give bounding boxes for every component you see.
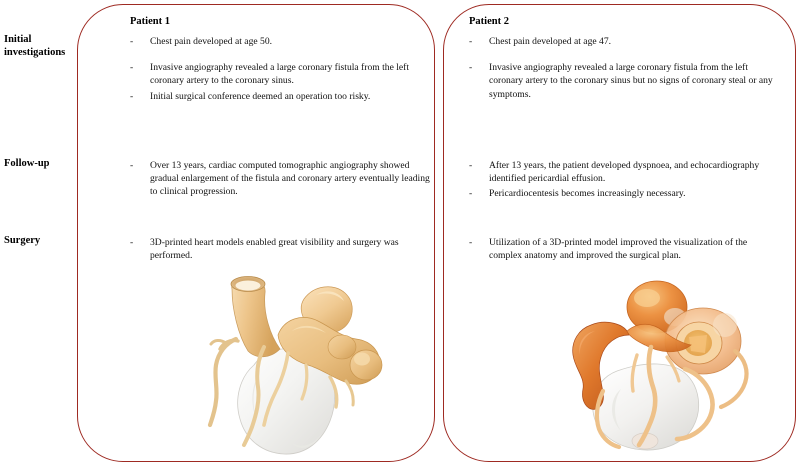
list-item: - After 13 years, the patient developed …	[469, 159, 781, 185]
list-item: - Invasive angiography revealed a large …	[130, 61, 430, 87]
list-item-text: Utilization of a 3D-printed model improv…	[489, 237, 747, 261]
bullet-dash-icon: -	[130, 35, 133, 48]
list-item-text: Over 13 years, cardiac computed tomograp…	[150, 160, 430, 197]
row-label-column: Initial investigations Follow-up Surgery	[0, 0, 76, 468]
list-item-text: After 13 years, the patient developed dy…	[489, 160, 759, 184]
patient-2-title: Patient 2	[469, 15, 509, 28]
list-item: - Chest pain developed at age 50.	[130, 35, 430, 48]
bullet-dash-icon: -	[130, 159, 133, 172]
row-label-initial-investigations: Initial investigations	[4, 34, 76, 59]
bullet-dash-icon: -	[469, 236, 472, 249]
patient-1-initial-investigations-list: - Chest pain developed at age 50. - Inva…	[130, 35, 430, 105]
heart-model-image-patient-1	[196, 273, 416, 455]
patient-2-panel: Patient 2 - Chest pain developed at age …	[443, 4, 796, 462]
bullet-dash-icon: -	[469, 159, 472, 172]
list-item-text: Chest pain developed at age 50.	[150, 36, 272, 47]
list-item: - Chest pain developed at age 47.	[469, 35, 781, 48]
patient-1-follow-up-list: - Over 13 years, cardiac computed tomogr…	[130, 159, 430, 201]
patient-2-follow-up-list: - After 13 years, the patient developed …	[469, 159, 781, 203]
bullet-dash-icon: -	[469, 35, 472, 48]
list-item: - Utilization of a 3D-printed model impr…	[469, 236, 781, 262]
list-item: - Pericardiocentesis becomes increasingl…	[469, 187, 781, 200]
list-item-text: Invasive angiography revealed a large co…	[489, 62, 773, 99]
row-label-follow-up: Follow-up	[4, 158, 76, 171]
list-item-text: Pericardiocentesis becomes increasingly …	[489, 188, 686, 199]
list-item: - Invasive angiography revealed a large …	[469, 61, 781, 101]
bullet-dash-icon: -	[469, 187, 472, 200]
list-item: - Over 13 years, cardiac computed tomogr…	[130, 159, 430, 199]
list-item-text: Initial surgical conference deemed an op…	[150, 91, 370, 102]
patient-1-title: Patient 1	[130, 15, 170, 28]
list-item-text: Chest pain developed at age 47.	[489, 36, 611, 47]
patient-1-panel: Patient 1 - Chest pain developed at age …	[77, 4, 435, 462]
list-item-text: Invasive angiography revealed a large co…	[150, 62, 409, 86]
bullet-dash-icon: -	[130, 61, 133, 74]
list-item: - Initial surgical conference deemed an …	[130, 90, 430, 103]
row-label-surgery: Surgery	[4, 235, 76, 248]
list-item-text: 3D-printed heart models enabled great vi…	[150, 237, 399, 261]
heart-model-image-patient-2	[539, 273, 764, 455]
patient-2-initial-investigations-list: - Chest pain developed at age 47. - Inva…	[469, 35, 781, 103]
bullet-dash-icon: -	[469, 61, 472, 74]
bullet-dash-icon: -	[130, 236, 133, 249]
bullet-dash-icon: -	[130, 90, 133, 103]
patient-2-surgery-list: - Utilization of a 3D-printed model impr…	[469, 236, 781, 264]
list-item: - 3D-printed heart models enabled great …	[130, 236, 430, 262]
patient-1-surgery-list: - 3D-printed heart models enabled great …	[130, 236, 430, 264]
